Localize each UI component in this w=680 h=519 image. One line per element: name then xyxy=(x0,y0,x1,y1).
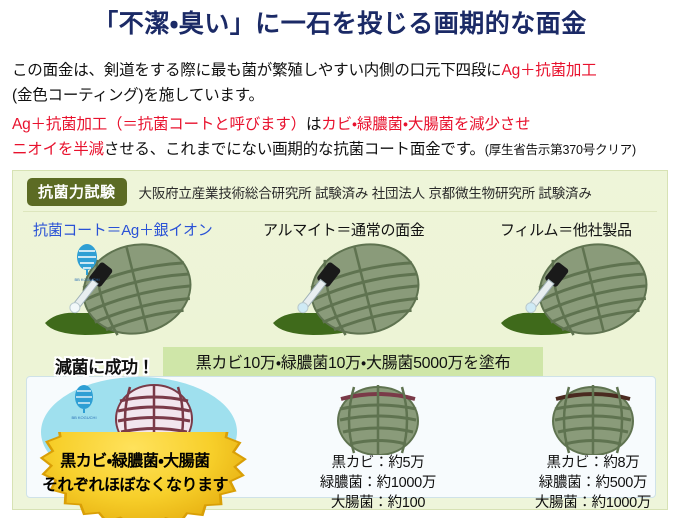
panel-header: 抗菌力試験 大阪府立産業技術総合研究所 試験済み 社団法人 京都微生物研究所 試… xyxy=(27,179,659,205)
conclusion-starburst-badge: 黒カビ・緑膿菌・大腸菌 それぞれほぼなくなります xyxy=(4,432,266,518)
test-badge: 抗菌力試験 xyxy=(27,178,127,206)
result-film-line-2: 緑膿菌：約500万 xyxy=(478,473,668,493)
intro-p1-highlight: Ag＋抗菌加工 xyxy=(501,62,596,79)
intro-p2-highlight-3: ニオイを半減 xyxy=(12,141,104,158)
men-gane-illustration-3 xyxy=(483,241,663,346)
svg-text:BB KOGUCHI: BB KOGUCHI xyxy=(71,415,96,420)
intro-p2-highlight-1: Ag＋抗菌加工（＝抗菌コートと呼びます） xyxy=(12,116,306,133)
men-gane-illustration-2 xyxy=(255,241,435,346)
result-alumite-line-2: 緑膿菌：約1000万 xyxy=(263,473,493,493)
intro-p2-segment-5: させる、これまでにない画期的な抗菌コート面金です。 xyxy=(104,141,485,158)
page-title: 「不潔・臭い」に一石を投じる画期的な面金 xyxy=(0,4,680,40)
intro-paragraph-2: Ag＋抗菌加工（＝抗菌コートと呼びます）はカビ・緑膿菌・大腸菌を減少させ ニオイ… xyxy=(12,112,672,163)
intro-p2-footnote: (厚生省告示第370号クリア) xyxy=(485,143,636,157)
men-gane-illustration-1: BB KOGUCHI xyxy=(27,241,207,346)
svg-text:BB KOGUCHI: BB KOGUCHI xyxy=(74,277,99,282)
specimen-top-antibacterial-coat: BB KOGUCHI xyxy=(27,241,207,346)
column-heading-film: フィルム＝他社製品 xyxy=(500,219,632,240)
specimen-top-alumite xyxy=(255,241,435,346)
result-alumite-line-1: 黒カビ：約5万 xyxy=(263,453,493,473)
column-heading-antibacterial-coat: 抗菌コート＝Ag＋銀イオン xyxy=(33,219,212,240)
intro-paragraph-1: この面金は、剣道をする際に最も菌が繁殖しやすい内側の口元下四段にAg＋抗菌加工 … xyxy=(12,58,672,108)
header-divider xyxy=(23,211,657,212)
testing-laboratories-label: 大阪府立産業技術総合研究所 試験済み 社団法人 京都微生物研究所 試験済み xyxy=(139,182,592,202)
result-values-alumite: 黒カビ：約5万 緑膿菌：約1000万 大腸菌：約100 xyxy=(263,453,493,510)
intro-p2-highlight-2: カビ・緑膿菌・大腸菌を減少させ xyxy=(321,116,530,133)
intro-p1-segment-1: この面金は、剣道をする際に最も菌が繁殖しやすい内側の口元下四段に xyxy=(12,62,501,79)
conclusion-line-1: 黒カビ・緑膿菌・大腸菌 xyxy=(4,450,266,474)
result-values-film: 黒カビ：約8万 緑膿菌：約500万 大腸菌：約1000万 xyxy=(478,453,668,510)
conclusion-text: 黒カビ・緑膿菌・大腸菌 それぞれほぼなくなります xyxy=(4,450,266,498)
conclusion-line-2: それぞれほぼなくなります xyxy=(4,474,266,498)
specimen-result-film xyxy=(518,377,668,455)
intro-p1-segment-3: (金色コーティング)を施しています。 xyxy=(12,87,264,104)
result-film-line-3: 大腸菌：約1000万 xyxy=(478,493,668,510)
specimen-result-alumite xyxy=(303,377,453,455)
specimen-top-film xyxy=(483,241,663,346)
sterilization-success-label: 減菌に成功！ xyxy=(55,353,154,378)
column-heading-alumite: アルマイト＝通常の面金 xyxy=(263,219,425,240)
result-film-line-1: 黒カビ：約8万 xyxy=(478,453,668,473)
result-alumite-line-3: 大腸菌：約100 xyxy=(263,493,493,510)
men-gane-contaminated-illustration-2 xyxy=(518,377,668,455)
procedure-line-1: 黒カビ10万・緑膿菌10万・大腸菌5000万を塗布 xyxy=(163,351,543,376)
intro-p2-segment-2: は xyxy=(306,116,321,133)
men-gane-contaminated-illustration-1 xyxy=(303,377,453,455)
brand-watermark-icon xyxy=(75,385,93,413)
